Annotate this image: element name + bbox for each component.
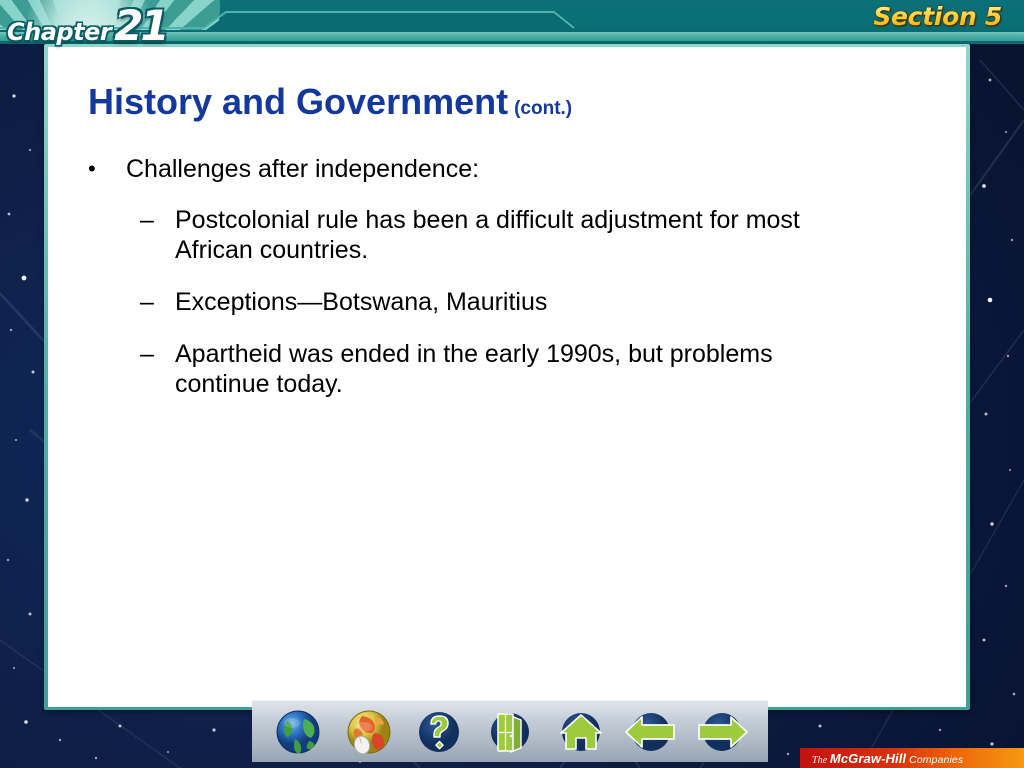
exit-button[interactable] — [480, 705, 540, 759]
presentation-slide: Chapter 21 Section 5 History and Governm… — [0, 0, 1024, 768]
home-icon — [556, 707, 606, 757]
bullet-marker-dash: – — [140, 287, 175, 317]
bullet-text: Apartheid was ended in the early 1990s, … — [175, 339, 865, 399]
next-button[interactable] — [692, 705, 752, 759]
chapter-number: 21 — [114, 7, 166, 45]
interactive-globe-button[interactable] — [339, 705, 399, 759]
section-label: Section 5 — [873, 2, 1002, 31]
previous-button[interactable] — [621, 705, 681, 759]
logo-companies: Companies — [906, 754, 963, 766]
logo-mcgraw-hill: McGraw-Hill — [830, 751, 906, 766]
slide-body: • Challenges after independence: – Postc… — [88, 155, 918, 421]
mcgraw-hill-logo: The McGraw-Hill Companies — [800, 748, 1024, 768]
navigation-toolbar — [252, 700, 768, 762]
bullet-marker-dash: – — [140, 339, 175, 369]
question-mark-icon — [414, 707, 464, 757]
page-title-text: History and Government — [88, 81, 508, 122]
globe-button[interactable] — [268, 705, 328, 759]
page-title-continued: (cont.) — [514, 98, 572, 119]
home-button[interactable] — [551, 705, 611, 759]
arrow-left-icon — [622, 707, 680, 757]
arrow-right-icon — [693, 707, 751, 757]
bullet-item-level2: – Postcolonial rule has been a difficult… — [140, 205, 918, 265]
logo-text: The McGraw-Hill Companies — [812, 751, 963, 766]
bullet-item-level2: – Exceptions—Botswana, Mauritius — [140, 287, 918, 317]
globe-icon — [273, 707, 323, 757]
bullet-item-level1: • Challenges after independence: — [88, 155, 918, 185]
bullet-marker-dash: – — [140, 205, 175, 235]
bullet-marker-dot: • — [88, 155, 126, 184]
bullet-text: Exceptions—Botswana, Mauritius — [175, 287, 865, 317]
help-button[interactable] — [409, 705, 469, 759]
logo-the: The — [812, 755, 830, 766]
page-title: History and Government(cont.) — [88, 81, 572, 123]
chapter-logo: Chapter 21 — [7, 7, 167, 46]
chapter-word: Chapter — [7, 18, 111, 46]
globe-mouse-icon — [344, 707, 394, 757]
bullet-text: Challenges after independence: — [126, 155, 918, 185]
door-exit-icon — [485, 707, 535, 757]
content-panel: History and Government(cont.) • Challeng… — [48, 47, 966, 707]
bullet-item-level2: – Apartheid was ended in the early 1990s… — [140, 339, 918, 399]
bullet-text: Postcolonial rule has been a difficult a… — [175, 205, 865, 265]
